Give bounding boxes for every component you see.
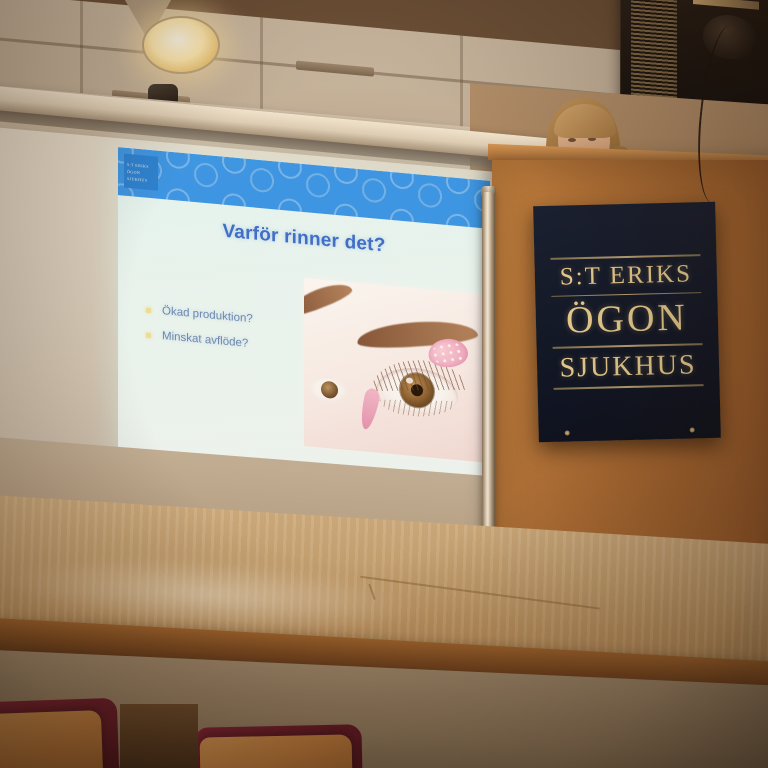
teardrop-icon bbox=[358, 387, 381, 432]
list-item: Ökad produktion? bbox=[146, 304, 253, 326]
list-item bbox=[0, 710, 103, 768]
lower-eyelashes bbox=[380, 400, 457, 418]
eyebrow-secondary bbox=[304, 278, 355, 319]
projected-slide: S:T ERIKS ÖGON SJUKHUS Varför rinner det… bbox=[118, 147, 490, 491]
bullet-marker-icon bbox=[146, 307, 151, 312]
second-eye bbox=[308, 374, 348, 404]
list-item: Minskat avflöde? bbox=[146, 329, 253, 351]
slide-bullet-list: Ökad produktion? Minskat avflöde? bbox=[146, 304, 253, 351]
sign-line-2: ÖGON bbox=[551, 294, 702, 348]
bullet-marker-icon bbox=[146, 332, 151, 337]
presenter-eye-left bbox=[568, 138, 576, 142]
sign-screw-right bbox=[690, 427, 695, 432]
projector-label-strip bbox=[693, 0, 759, 10]
sign-screw-left bbox=[565, 430, 570, 435]
list-item bbox=[200, 734, 353, 768]
sign-line-1: S:T ERIKS bbox=[550, 256, 701, 296]
slide-logo-line-3: SJUKHUS bbox=[127, 175, 158, 183]
slide-eye-illustration bbox=[304, 278, 482, 462]
ceiling-round-light-icon bbox=[142, 16, 220, 74]
chair-gap-divider bbox=[120, 704, 198, 768]
lecture-hall-photo: S:T ERIKS ÖGON SJUKHUS Varför rinner det… bbox=[0, 0, 768, 768]
slide-logo: S:T ERIKS ÖGON SJUKHUS bbox=[124, 154, 158, 191]
slide-bullet-text: Ökad produktion? bbox=[162, 305, 253, 325]
podium-sign: S:T ERIKS ÖGON SJUKHUS bbox=[533, 202, 721, 442]
slide-bullet-text: Minskat avflöde? bbox=[162, 330, 248, 350]
slide-body: Ökad produktion? Minskat avflöde? bbox=[118, 233, 490, 467]
sign-line-3: SJUKHUS bbox=[553, 345, 704, 388]
projector-vent-grill bbox=[631, 0, 677, 101]
